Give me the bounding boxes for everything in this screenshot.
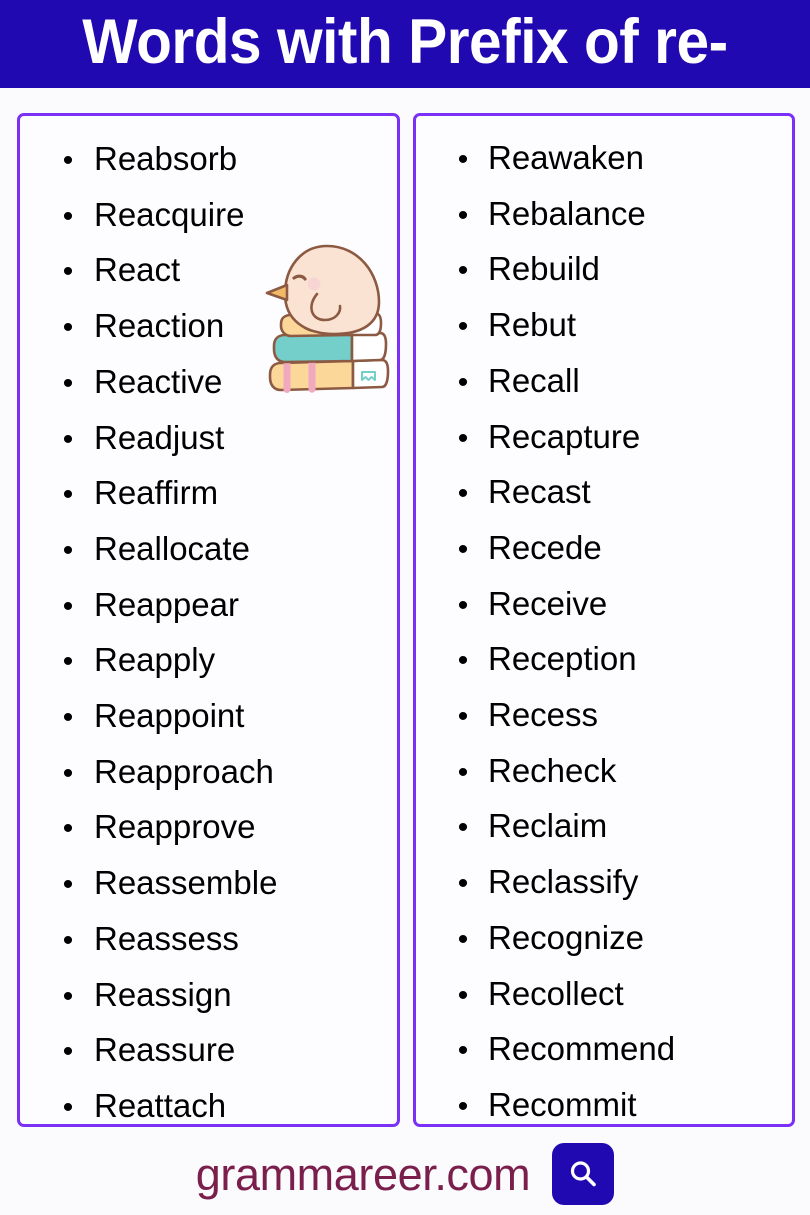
list-item: •Readjust	[56, 410, 400, 466]
bullet-icon: •	[56, 870, 80, 900]
bullet-icon: •	[451, 702, 475, 732]
word-label: Reappoint	[94, 688, 244, 744]
bullet-icon: •	[56, 202, 80, 232]
bullet-icon: •	[56, 647, 80, 677]
word-label: Reappear	[94, 577, 239, 633]
word-label: Recommend	[488, 1021, 675, 1077]
word-label: Reassess	[94, 911, 239, 967]
word-label: Recommit	[488, 1077, 637, 1127]
list-item: •Receive	[451, 576, 795, 632]
word-label: Reassign	[94, 967, 232, 1023]
bullet-icon: •	[451, 1036, 475, 1066]
list-item: •Reappoint	[56, 688, 400, 744]
site-watermark: grammareer.com	[196, 1152, 531, 1197]
list-item: •Rebut	[451, 297, 795, 353]
bullet-icon: •	[56, 536, 80, 566]
bullet-icon: •	[56, 592, 80, 622]
word-label: Reception	[488, 631, 637, 687]
word-label: Reabsorb	[94, 131, 237, 187]
bullet-icon: •	[56, 759, 80, 789]
word-label: Reapprove	[94, 799, 255, 855]
word-label: Reapproach	[94, 744, 274, 800]
word-label: Recall	[488, 353, 580, 409]
word-label: Readjust	[94, 410, 224, 466]
list-item: •Reassign	[56, 967, 400, 1023]
word-label: Reclaim	[488, 798, 607, 854]
bullet-icon: •	[451, 813, 475, 843]
bullet-icon: •	[451, 256, 475, 286]
word-label: Reactive	[94, 354, 222, 410]
list-item: •Rebalance	[451, 186, 795, 242]
bullet-icon: •	[56, 313, 80, 343]
list-item: •Reappear	[56, 577, 400, 633]
list-item: •Recede	[451, 520, 795, 576]
word-label: Rebuild	[488, 241, 600, 297]
word-label: Recheck	[488, 743, 616, 799]
right-word-card: •Reawaken•Rebalance•Rebuild•Rebut•Recall…	[413, 113, 795, 1127]
bullet-icon: •	[451, 479, 475, 509]
bullet-icon: •	[56, 1037, 80, 1067]
list-item: •Reabsorb	[56, 131, 400, 187]
bullet-icon: •	[451, 312, 475, 342]
word-label: Reacquire	[94, 187, 244, 243]
word-label: Reaffirm	[94, 465, 218, 521]
word-label: Recede	[488, 520, 602, 576]
right-word-list: •Reawaken•Rebalance•Rebuild•Rebut•Recall…	[416, 116, 795, 1127]
list-item: •Reapproach	[56, 744, 400, 800]
word-label: Receive	[488, 576, 607, 632]
bullet-icon: •	[451, 869, 475, 899]
bullet-icon: •	[56, 480, 80, 510]
search-icon	[566, 1157, 600, 1191]
word-label: Recast	[488, 464, 591, 520]
word-label: React	[94, 242, 180, 298]
list-item: •Recall	[451, 353, 795, 409]
bullet-icon: •	[451, 981, 475, 1011]
list-item: •Reaffirm	[56, 465, 400, 521]
word-label: Recognize	[488, 910, 644, 966]
word-label: Reawaken	[488, 130, 644, 186]
list-item: •Reclassify	[451, 854, 795, 910]
word-label: Reallocate	[94, 521, 250, 577]
word-label: Reapply	[94, 632, 215, 688]
bullet-icon: •	[56, 425, 80, 455]
bullet-icon: •	[56, 926, 80, 956]
left-word-card: •Reabsorb•Reacquire•React•Reaction•React…	[17, 113, 400, 1127]
list-item: •Reacquire	[56, 187, 400, 243]
word-label: Reassure	[94, 1022, 235, 1078]
list-item: •Reaction	[56, 298, 400, 354]
list-item: •Reawaken	[451, 130, 795, 186]
bullet-icon: •	[451, 424, 475, 454]
list-item: •React	[56, 242, 400, 298]
bullet-icon: •	[451, 591, 475, 621]
word-label: Reaction	[94, 298, 224, 354]
word-label: Recollect	[488, 966, 624, 1022]
bullet-icon: •	[56, 1093, 80, 1123]
page-title: Words with Prefix of re-	[82, 11, 727, 74]
list-item: •Reassemble	[56, 855, 400, 911]
bullet-icon: •	[451, 1092, 475, 1122]
bullet-icon: •	[451, 535, 475, 565]
word-label: Reassemble	[94, 855, 277, 911]
list-item: •Recapture	[451, 409, 795, 465]
bullet-icon: •	[451, 201, 475, 231]
bullet-icon: •	[56, 369, 80, 399]
list-item: •Reassess	[56, 911, 400, 967]
word-label: Reattach	[94, 1078, 226, 1127]
bullet-icon: •	[451, 758, 475, 788]
list-item: •Reception	[451, 631, 795, 687]
list-item: •Reallocate	[56, 521, 400, 577]
word-label: Rebut	[488, 297, 576, 353]
list-item: •Reapply	[56, 632, 400, 688]
list-item: •Reactive	[56, 354, 400, 410]
left-word-list: •Reabsorb•Reacquire•React•Reaction•React…	[20, 116, 400, 1127]
bullet-icon: •	[451, 368, 475, 398]
word-columns-container: •Reabsorb•Reacquire•React•Reaction•React…	[0, 113, 810, 1127]
list-item: •Reclaim	[451, 798, 795, 854]
list-item: •Recheck	[451, 743, 795, 799]
bullet-icon: •	[451, 925, 475, 955]
list-item: •Rebuild	[451, 241, 795, 297]
list-item: •Recommend	[451, 1021, 795, 1077]
bullet-icon: •	[451, 646, 475, 676]
bullet-icon: •	[56, 982, 80, 1012]
bullet-icon: •	[56, 814, 80, 844]
header-banner: Words with Prefix of re-	[0, 0, 810, 88]
list-item: •Recollect	[451, 966, 795, 1022]
list-item: •Recognize	[451, 910, 795, 966]
list-item: •Reattach	[56, 1078, 400, 1127]
word-label: Reclassify	[488, 854, 638, 910]
word-label: Recapture	[488, 409, 640, 465]
search-button[interactable]	[552, 1143, 614, 1205]
list-item: •Reassure	[56, 1022, 400, 1078]
footer-bar: grammareer.com	[0, 1133, 810, 1215]
bullet-icon: •	[56, 703, 80, 733]
word-label: Rebalance	[488, 186, 646, 242]
list-item: •Recess	[451, 687, 795, 743]
bullet-icon: •	[56, 257, 80, 287]
bullet-icon: •	[451, 145, 475, 175]
word-label: Recess	[488, 687, 598, 743]
list-item: •Recast	[451, 464, 795, 520]
list-item: •Reapprove	[56, 799, 400, 855]
list-item: •Recommit	[451, 1077, 795, 1127]
bullet-icon: •	[56, 146, 80, 176]
